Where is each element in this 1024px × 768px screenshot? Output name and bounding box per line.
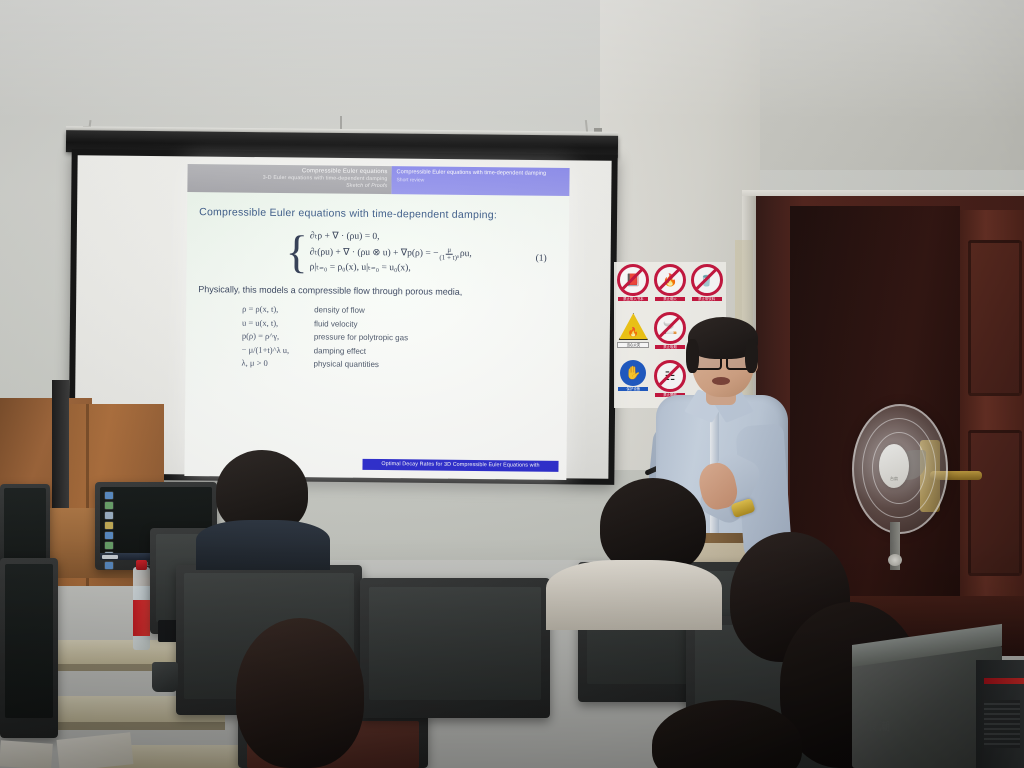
physical-note: Physically, this models a compressible f… [198,284,558,298]
door-panel-lower [968,430,1022,576]
equation-line-3: ρ|ₜ₌₀ = ρ₀(x), u|ₜ₌₀ = u₀(x), [309,260,471,277]
start-button[interactable] [102,555,118,559]
door-panel-upper [968,240,1022,396]
definition-item: λ, μ > 0physical quantities [241,357,557,374]
water-bottle-cap [136,560,147,570]
student-head-3 [236,618,364,768]
definition-list: ρ = ρ(x, t),density of flow u = u(x, t),… [197,302,558,373]
classroom-photo: Compressible Euler equations 3-D Euler e… [0,0,1024,768]
desktop-icon[interactable] [105,492,113,499]
slide-header-left: Compressible Euler equations 3-D Euler e… [187,164,391,194]
slide-footer: Optimal Decay Rates for 3D Compressible … [362,459,558,472]
paper-stack-2 [0,740,53,768]
definition-symbol: ρ = ρ(x, t), [242,303,314,317]
equation-lines: ∂ₜρ + ∇ · (ρu) = 0, ∂ₜ(ρu) + ∇ · (ρu ⊗ u… [309,229,472,277]
monitor-screen [369,587,541,700]
no-books-icon: 📕 [617,264,649,296]
desktop-icon[interactable] [105,542,113,549]
equation-system: { ∂ₜρ + ∇ · (ρu) = 0, ∂ₜ(ρu) + ∇ · (ρu ⊗… [198,228,558,278]
definition-symbol: λ, μ > 0 [241,357,313,371]
fan-control-knob[interactable] [888,554,902,566]
slide-body: Compressible Euler equations with time-d… [185,192,569,374]
equation-number: (1) [536,254,547,264]
equation-line-2: ∂ₜ(ρu) + ∇ · (ρu ⊗ u) + ∇p(ρ) = −μ(1 + t… [310,244,472,262]
monitor-screen [5,564,53,718]
slide-header-right: Compressible Euler equations with time-d… [391,166,569,196]
equation-brace: { [285,237,307,267]
no-drinks-icon: 🥤 [691,264,723,296]
presenter-mouth [712,377,730,385]
sign-fire-warning: 🔥 当心火灾 [616,312,651,358]
wear-protection-icon: ✋ [620,360,646,386]
desktop-icon[interactable] [105,502,113,509]
sign-caption: 禁止带饮料 [692,297,722,301]
slide-header: Compressible Euler equations 3-D Euler e… [187,164,569,196]
definition-meaning: fluid velocity [314,319,358,328]
definition-symbol: − μ/(1+t)^λ u, [242,343,314,357]
pc-tower-label: 浪潮 [866,718,892,734]
sign-no-open-flame: 🔥 禁止烟火 [653,264,688,310]
definition-meaning: pressure for polytropic gas [314,333,408,343]
desktop-icon[interactable] [105,522,113,529]
sign-wear-protection: ✋ 保护设备 [616,360,651,406]
monitor-screen [4,488,46,568]
desktop-icon[interactable] [105,532,113,539]
projected-slide: Compressible Euler equations 3-D Euler e… [184,164,569,480]
dark-pillar [52,380,69,528]
sign-no-drinks: 🥤 禁止带饮料 [689,264,724,310]
desktop-icon[interactable] [105,562,113,569]
slide-title: Compressible Euler equations with time-d… [199,206,559,222]
monitor-left-foreground [0,558,58,738]
definition-meaning: physical quantities [314,360,379,370]
equation-line-1: ∂ₜρ + ∇ · (ρu) = 0, [310,229,472,246]
pc-accent-strip [984,678,1024,684]
sign-caption: 禁止带入书本 [618,297,648,301]
sign-caption: 禁止烟火 [655,297,685,301]
fraction-denominator: (1 + t)ᵟ [439,254,459,262]
no-open-flame-icon: 🔥 [654,264,686,296]
presenter-hair-side-right [745,339,758,373]
cup [152,662,178,692]
damping-fraction: μ(1 + t)ᵟ [439,246,459,262]
slide-header-left-line3: Sketch of Proofs [187,181,387,190]
water-bottle-label [133,600,150,636]
desktop-icon[interactable] [105,512,113,519]
sign-no-books: 📕 禁止带入书本 [616,264,651,310]
student-shoulders-1 [196,520,330,570]
sign-caption: 当心火灾 [617,342,649,348]
paper-stack [57,732,134,768]
definition-symbol: p(ρ) = ρ^γ, [242,330,314,344]
definition-meaning: damping effect [314,346,366,356]
pc-vent-grille [984,700,1020,748]
desktop-icon-column [105,492,119,572]
wall-fan[interactable]: 台扇 [852,404,948,572]
desk-edge-mid [45,722,225,730]
equation-line-2-left: ∂ₜ(ρu) + ∇ · (ρu ⊗ u) + ∇p(ρ) = − [310,247,439,258]
presenter-hair-side-left [686,339,699,373]
definition-symbol: u = u(x, t), [242,316,314,330]
definition-meaning: density of flow [314,306,365,316]
wall-highlight [0,0,1024,120]
fan-label: 台扇 [881,476,907,482]
sign-caption: 保护设备 [618,387,648,391]
monitor-mid-2 [360,578,550,718]
student-shoulders-2 [546,560,722,630]
equation-line-2-tail: ρu, [460,249,472,259]
fire-warning-icon: 🔥 [618,312,649,341]
